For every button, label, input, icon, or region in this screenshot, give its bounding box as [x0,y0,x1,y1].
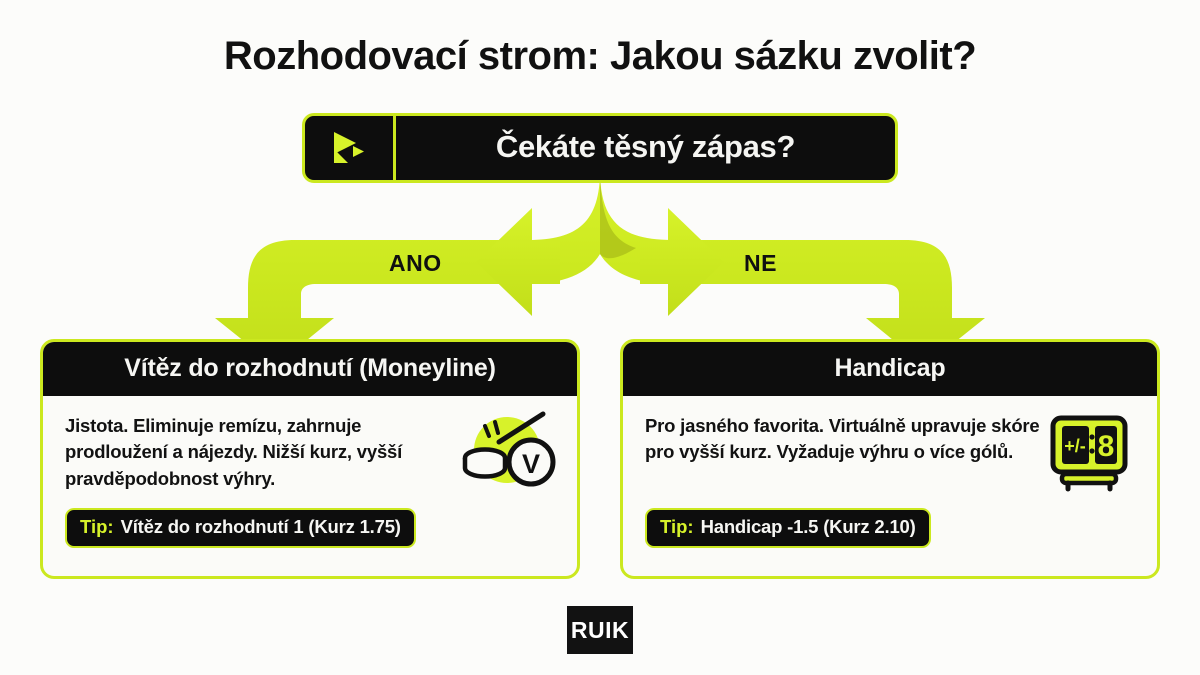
card-moneyline-tip[interactable]: Tip: Vítěz do rozhodnutí 1 (Kurz 1.75) [65,508,416,548]
card-handicap-tip[interactable]: Tip: Handicap -1.5 (Kurz 2.10) [645,508,931,548]
svg-text:V: V [522,449,540,479]
svg-text:8: 8 [1098,430,1115,463]
tip-label: Tip: [80,516,114,538]
card-moneyline[interactable]: Vítěz do rozhodnutí (Moneyline) Jistota.… [40,339,580,579]
card-moneyline-heading: Vítěz do rozhodnutí (Moneyline) [43,342,577,396]
card-handicap-heading: Handicap [623,342,1157,396]
card-moneyline-body: Jistota. Eliminuje remízu, zahrnuje prod… [43,396,577,578]
tip-label: Tip: [660,516,694,538]
play-chevron-icon [326,125,372,171]
page-title: Rozhodovací strom: Jakou sázku zvolit? [0,34,1200,79]
tip-value: Vítěz do rozhodnutí 1 (Kurz 1.75) [121,516,401,538]
branch-label-ne: NE [744,250,777,277]
arrow-ne [600,170,985,366]
brand-logo: RUIK [567,606,633,654]
card-handicap-body: Pro jasného favorita. Virtuálně upravuje… [623,396,1157,578]
puck-stick-check-icon: V [455,400,563,500]
root-question-text: Čekáte těsný zápas? [396,116,895,180]
branch-label-ano: ANO [389,250,442,277]
card-handicap-description: Pro jasného favorita. Virtuálně upravuje… [645,413,1045,466]
root-icon-cell [305,116,396,180]
card-moneyline-description: Jistota. Eliminuje remízu, zahrnuje prod… [65,413,465,492]
brand-logo-text: RUIK [571,617,629,644]
infographic-canvas: Rozhodovací strom: Jakou sázku zvolit? [0,0,1200,675]
svg-text:+/-: +/- [1064,436,1086,456]
scoreboard-icon: +/- 8 [1035,400,1143,500]
tip-value: Handicap -1.5 (Kurz 2.10) [701,516,916,538]
root-question-box[interactable]: Čekáte těsný zápas? [302,113,898,183]
card-handicap[interactable]: Handicap Pro jasného favorita. Virtuálně… [620,339,1160,579]
